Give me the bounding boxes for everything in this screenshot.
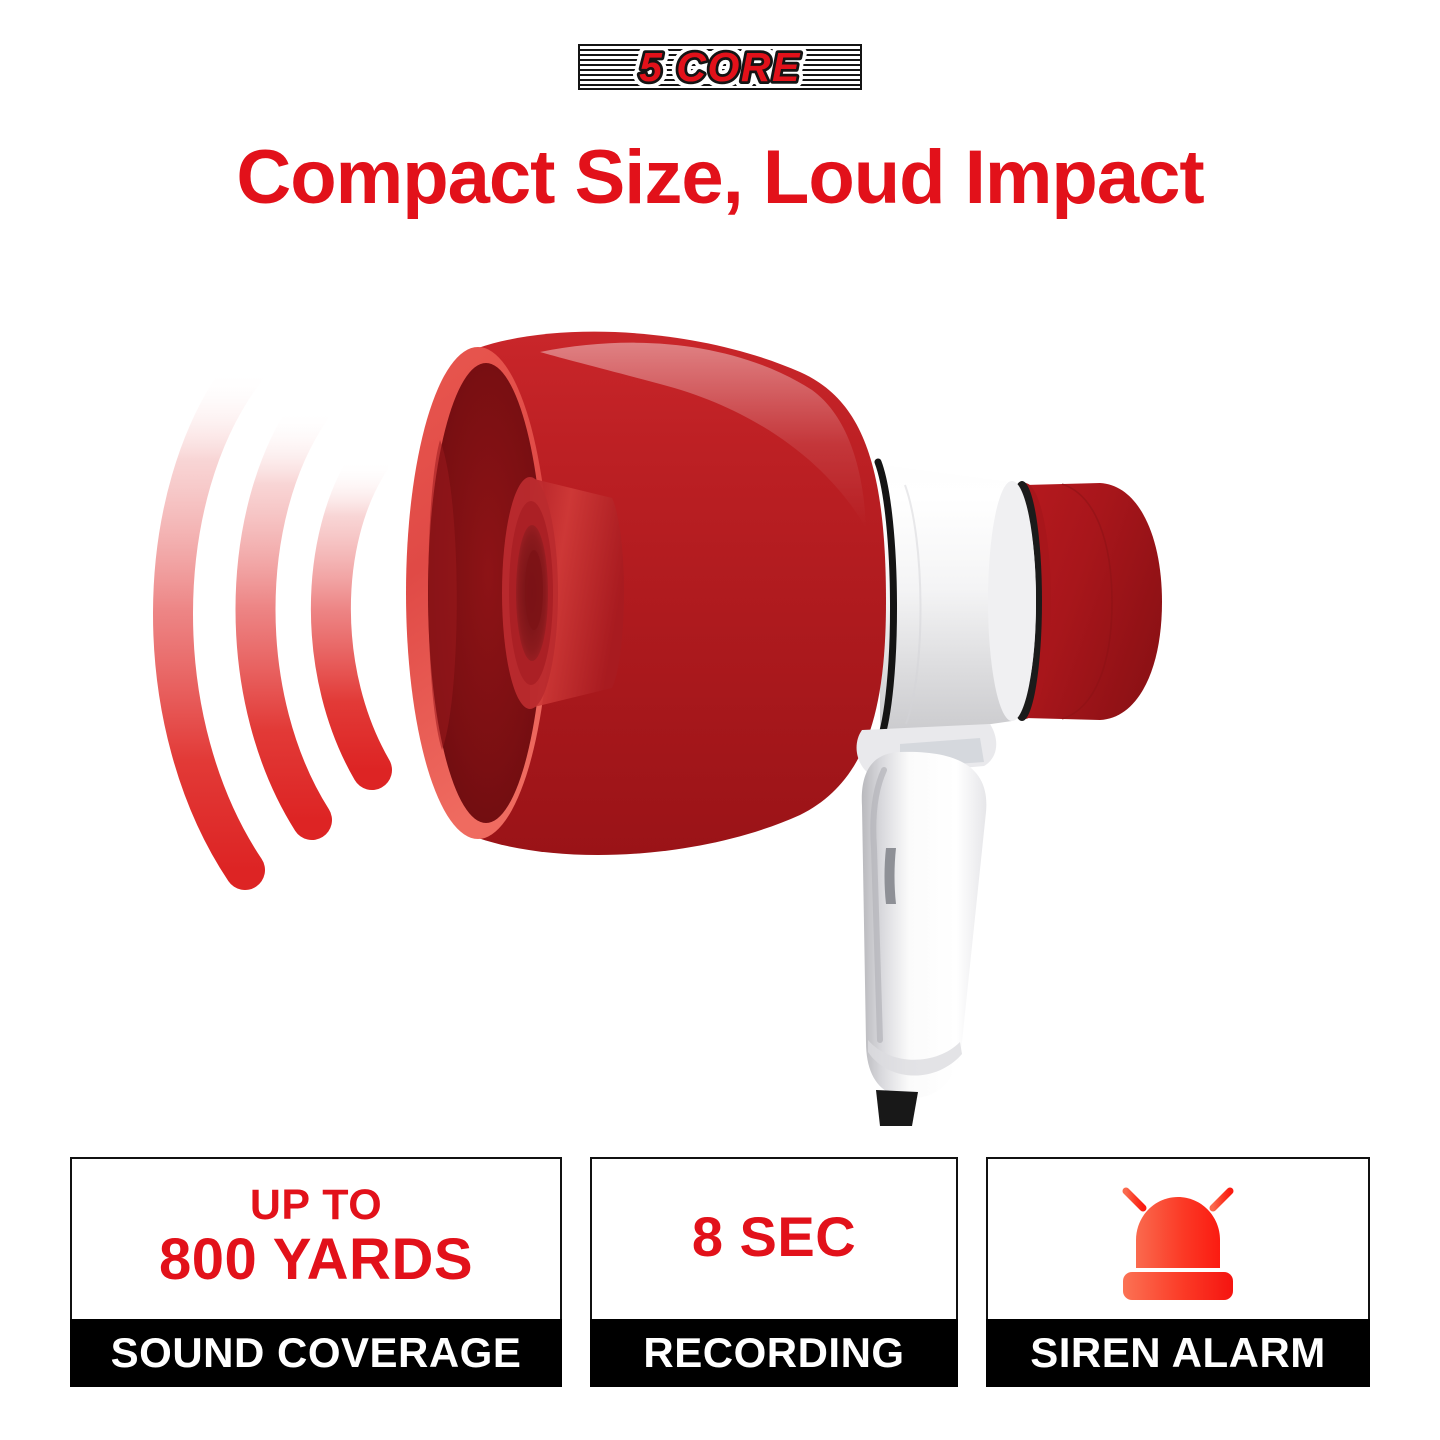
feature-card-body: 8 SEC — [592, 1159, 956, 1319]
feature-card-label: RECORDING — [590, 1319, 958, 1387]
feature-card-recording[interactable]: 8 SEC RECORDING — [590, 1157, 958, 1387]
brand-logo: 5 CORE 5 CORE 5 CORE — [578, 44, 862, 90]
siren-dome — [1136, 1197, 1220, 1268]
svg-text:5 CORE: 5 CORE — [639, 44, 801, 90]
megaphone-handle — [862, 752, 987, 1098]
megaphone-graphic — [406, 332, 1162, 1126]
siren-light-icon — [1103, 1167, 1253, 1307]
feature-card-label: SOUND COVERAGE — [70, 1319, 562, 1387]
stat-value: 8 SEC — [692, 1206, 856, 1268]
feature-cards-row: UP TO 800 YARDS SOUND COVERAGE 8 SEC REC… — [70, 1157, 1370, 1387]
feature-card-label: SIREN ALARM — [986, 1319, 1370, 1387]
megaphone-trigger-slot — [885, 848, 897, 904]
stat-value: 800 YARDS — [159, 1228, 473, 1292]
siren-base — [1123, 1272, 1233, 1300]
feature-card-siren-alarm[interactable]: SIREN ALARM — [986, 1157, 1370, 1387]
stat-qualifier: UP TO — [250, 1183, 382, 1228]
feature-card-body — [988, 1159, 1368, 1319]
feature-card-body: UP TO 800 YARDS — [72, 1159, 560, 1319]
logo-wordmark-group: 5 CORE 5 CORE 5 CORE — [639, 44, 801, 90]
megaphone-handle-tip — [876, 1090, 918, 1126]
page-title: Compact Size, Loud Impact — [0, 140, 1440, 216]
sound-wave-arcs — [173, 370, 372, 870]
product-hero-image — [0, 300, 1440, 1130]
feature-card-sound-coverage[interactable]: UP TO 800 YARDS SOUND COVERAGE — [70, 1157, 562, 1387]
